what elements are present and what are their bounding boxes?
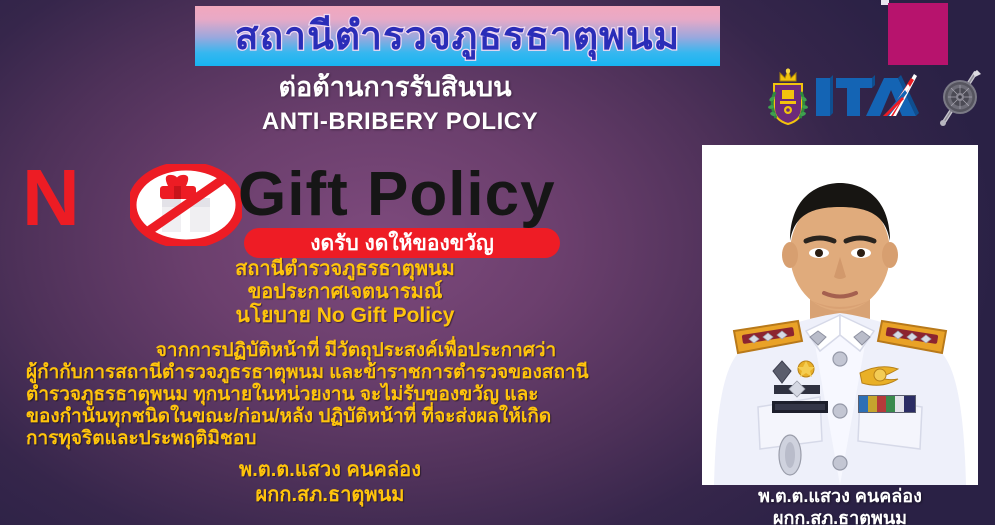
body-line-4: ของกำนันทุกชนิดในขณะ/ก่อน/หลัง ปฏิบัติหน… bbox=[26, 406, 686, 428]
policy-body-paragraph: จากการปฏิบัติหน้าที่ มีวัตถุประสงค์เพื่อ… bbox=[26, 340, 686, 450]
declaration-line-3: นโยบาย No Gift Policy bbox=[60, 304, 630, 327]
declaration-line-1: สถานีตำรวจภูธรธาตุพนม bbox=[60, 258, 630, 281]
gift-policy-text: Gift Policy bbox=[238, 164, 556, 226]
signature-name: พ.ต.ต.แสวง คนคล่อง bbox=[120, 458, 540, 483]
logo-row bbox=[766, 66, 992, 128]
photo-caption: พ.ต.ต.แสวง คนคล่อง ผกก.สภ.ธาตุพนม bbox=[690, 485, 990, 525]
royal-thai-police-emblem-icon bbox=[766, 68, 810, 126]
no-gift-policy-lockup: N Gift Policy งดรับ งดให้ของขวัญ bbox=[22, 158, 602, 258]
ita-logo-icon bbox=[814, 72, 922, 122]
body-line-5: การทุจริตและประพฤติมิชอบ bbox=[26, 428, 686, 450]
declaration-block: สถานีตำรวจภูธรธาตุพนม ขอประกาศเจตนารมณ์ … bbox=[60, 258, 630, 327]
station-name-banner: สถานีตำรวจภูธรธาตุพนม bbox=[195, 6, 720, 66]
body-line-3: ตำรวจภูธรธาตุพนม ทุกนายในหน่วยงาน จะไม่ร… bbox=[26, 384, 686, 406]
officer-portrait-photo bbox=[702, 145, 978, 485]
pill-label: งดรับ งดให้ของขวัญ bbox=[310, 233, 494, 254]
magenta-decorative-block bbox=[888, 3, 948, 65]
police-seal-emblem-icon bbox=[926, 68, 988, 126]
body-line-2: ผู้กำกับการสถานีตำรวจภูธรธาตุพนม และข้าร… bbox=[26, 362, 686, 384]
declaration-line-2: ขอประกาศเจตนารมณ์ bbox=[60, 281, 630, 304]
banner-title: สถานีตำรวจภูธรธาตุพนม bbox=[235, 17, 680, 56]
signature-position: ผกก.สภ.ธาตุพนม bbox=[120, 483, 540, 508]
subtitle-thai: ต่อต้านการรับสินบน bbox=[0, 74, 790, 101]
signature-block-left: พ.ต.ต.แสวง คนคล่อง ผกก.สภ.ธาตุพนม bbox=[120, 458, 540, 508]
no-gift-prohibition-icon bbox=[130, 164, 242, 246]
caption-position: ผกก.สภ.ธาตุพนม bbox=[690, 507, 990, 525]
body-line-1: จากการปฏิบัติหน้าที่ มีวัตถุประสงค์เพื่อ… bbox=[26, 340, 686, 362]
anti-bribery-policy-poster: สถานีตำรวจภูธรธาตุพนม ต่อต้านการรับสินบน… bbox=[0, 0, 995, 525]
no-gift-pill-badge: งดรับ งดให้ของขวัญ bbox=[244, 228, 560, 258]
subtitle-english: ANTI-BRIBERY POLICY bbox=[0, 110, 800, 134]
no-word-text: N bbox=[22, 158, 78, 238]
caption-name: พ.ต.ต.แสวง คนคล่อง bbox=[690, 485, 990, 507]
